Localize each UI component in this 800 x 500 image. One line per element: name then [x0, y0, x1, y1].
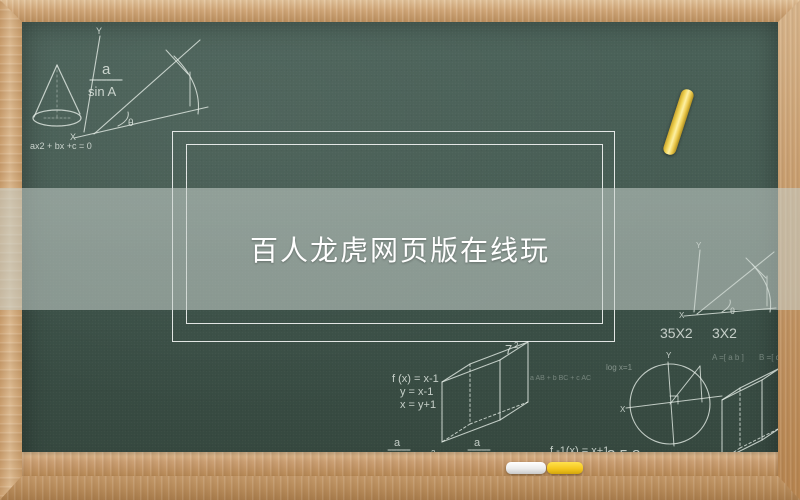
identity-expression: a AB + b BC + c AC: [530, 375, 591, 382]
yellow-chalk-piece: [547, 462, 583, 474]
svg-text:a: a: [474, 437, 481, 449]
svg-text:B =[ c d ]: B =[ c d ]: [759, 353, 778, 362]
white-chalk-piece: [506, 462, 546, 474]
expr-3x2-text: 3X2: [712, 325, 737, 341]
svg-text:y = x-1: y = x-1: [400, 386, 433, 398]
svg-text:θ: θ: [128, 118, 134, 129]
page-title: 百人龙虎网页版在线玩: [0, 188, 800, 310]
svg-text:X: X: [679, 311, 685, 320]
cube-drawing-right: [722, 368, 778, 460]
unit-circle-diagram: X Y: [620, 351, 722, 446]
svg-text:7: 7: [505, 342, 512, 357]
cone-drawing: [33, 65, 81, 126]
quadratic-equation-text: ax2 + bx +c = 0: [30, 141, 92, 151]
svg-text:a: a: [394, 437, 401, 449]
svg-text:X: X: [620, 405, 626, 414]
expr-35x2-text: 35X2: [660, 325, 693, 341]
chalk-ledge: [22, 452, 778, 476]
angle-diagram-topleft: Y X θ: [70, 26, 208, 142]
svg-text:sin A: sin A: [88, 84, 117, 99]
fraction-a-over-sina-topleft: a sin A: [88, 61, 122, 99]
power-seven-label: 7 2: [505, 341, 519, 357]
cube-drawing-center: [442, 342, 528, 442]
frame-top-rail: [0, 0, 800, 22]
function-lines-group: f (x) = x-1 y = x-1 x = y+1: [392, 373, 439, 411]
matrix-notation-group: A =[ a b ] B =[ c d ]: [712, 353, 778, 362]
frame-bottom-rail: [0, 476, 800, 500]
svg-text:A =[ a b ]: A =[ a b ]: [712, 353, 744, 362]
svg-text:2: 2: [514, 341, 519, 350]
svg-text:x = y+1: x = y+1: [400, 399, 436, 411]
log-x-label: log x=1: [606, 363, 633, 372]
svg-text:Y: Y: [666, 351, 672, 360]
svg-text:a AB + b BC + c AC: a AB + b BC + c AC: [530, 375, 591, 382]
svg-text:f (x) = x-1: f (x) = x-1: [392, 373, 439, 385]
banner-image: a sin A ax2 + bx +c = 0 Y X θ: [0, 0, 800, 500]
svg-text:X: X: [70, 132, 76, 142]
svg-text:a: a: [102, 61, 111, 78]
svg-text:Y: Y: [96, 26, 102, 36]
